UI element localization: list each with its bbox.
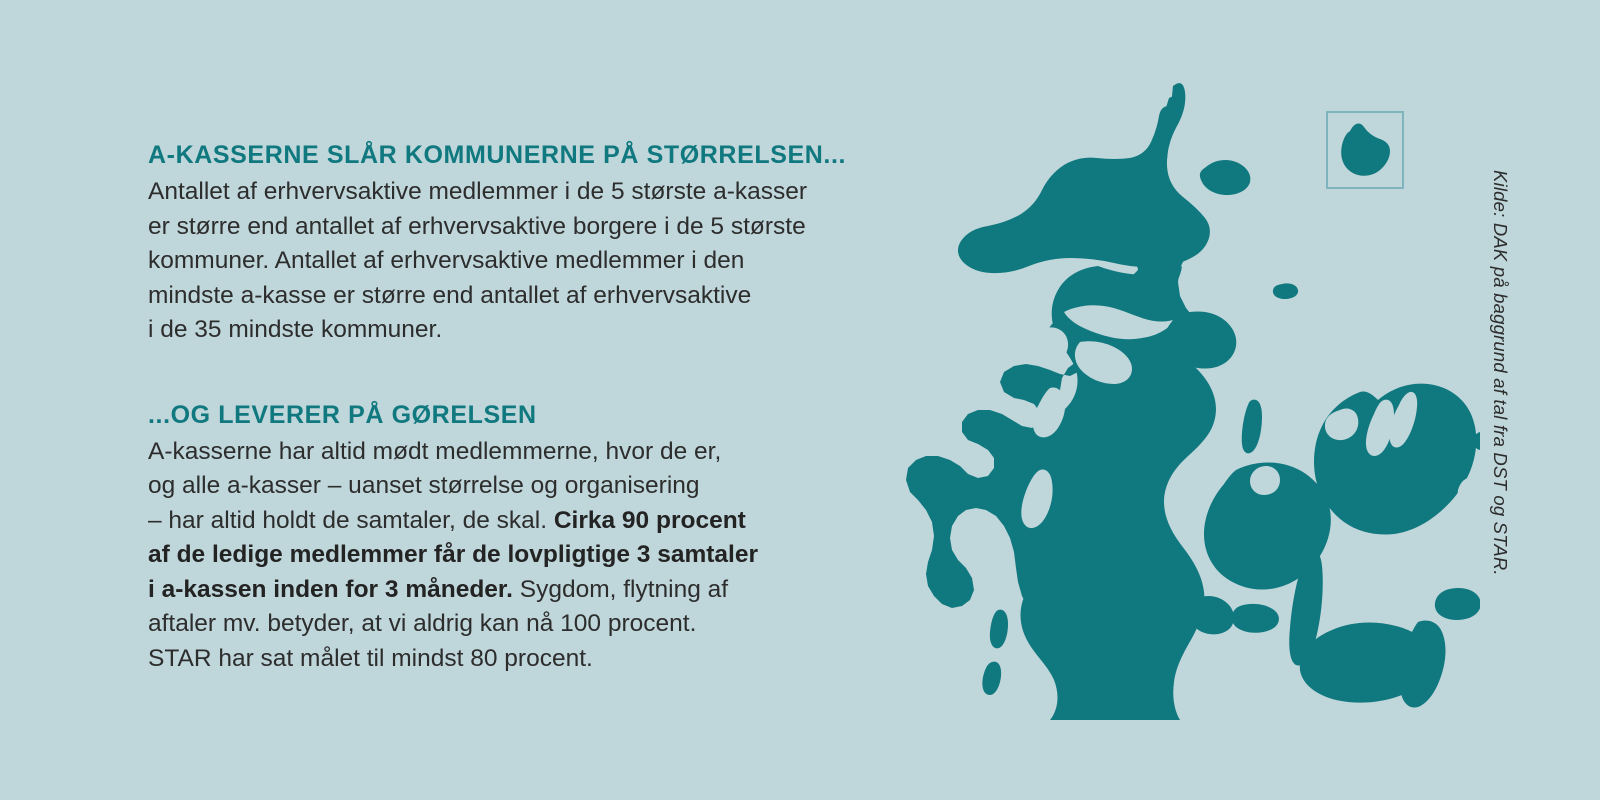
body-line-text: – har altid holdt de samtaler, de skal. [148,507,554,534]
infographic-canvas: A-KASSERNE SLÅR KOMMUNERNE PÅ STØRRELSEN… [0,0,1600,800]
block-heading-size: A-KASSERNE SLÅR KOMMUNERNE PÅ STØRRELSEN… [148,140,908,170]
anholt-island [1273,283,1298,299]
block-heading-delivery: ...OG LEVERER PÅ GØRELSEN [148,400,908,430]
body-line-mixed: – har altid holdt de samtaler, de skal. … [148,504,908,539]
body-line-bold: Cirka 90 procent [554,507,746,534]
bornholm-inset-box [1326,111,1404,189]
body-line: mindste a-kasse er større end antallet a… [148,279,908,314]
body-line: i de 35 mindste kommuner. [148,313,908,348]
body-line-bold: i a-kassen inden for 3 måneder. [148,576,513,603]
body-line-text: Sygdom, flytning af [513,576,728,603]
text-column: A-KASSERNE SLÅR KOMMUNERNE PÅ STØRRELSEN… [148,140,908,676]
body-line: STAR har sat målet til mindst 80 procent… [148,642,908,677]
body-line-mixed: i a-kassen inden for 3 måneder. Sygdom, … [148,573,908,608]
text-block-size: A-KASSERNE SLÅR KOMMUNERNE PÅ STØRRELSEN… [148,140,908,348]
body-line-bold: af de ledige medlemmer får de lovpligtig… [148,541,758,568]
block-body-size: Antallet af erhvervsaktive medlemmer i d… [148,175,908,348]
body-line: kommuner. Antallet af erhvervsaktive med… [148,244,908,279]
text-block-delivery: ...OG LEVERER PÅ GØRELSEN A-kasserne har… [148,400,908,677]
body-line: Antallet af erhvervsaktive medlemmer i d… [148,175,908,210]
source-credit: Kilde: DAK på baggrund af tal fra DST og… [1480,170,1520,610]
body-line: er større end antallet af erhvervsaktive… [148,210,908,245]
body-line: og alle a-kasser – uanset størrelse og o… [148,469,908,504]
body-line-bold-full: af de ledige medlemmer får de lovpligtig… [148,538,908,573]
mon-island [1435,588,1480,620]
body-line: A-kasserne har altid mødt medlemmerne, h… [148,435,908,470]
bornholm-island [1341,124,1390,176]
bornholm-inset-svg [1328,113,1402,187]
body-line: aftaler mv. betyder, at vi aldrig kan nå… [148,607,908,642]
block-body-delivery: A-kasserne har altid mødt medlemmerne, h… [148,435,908,677]
